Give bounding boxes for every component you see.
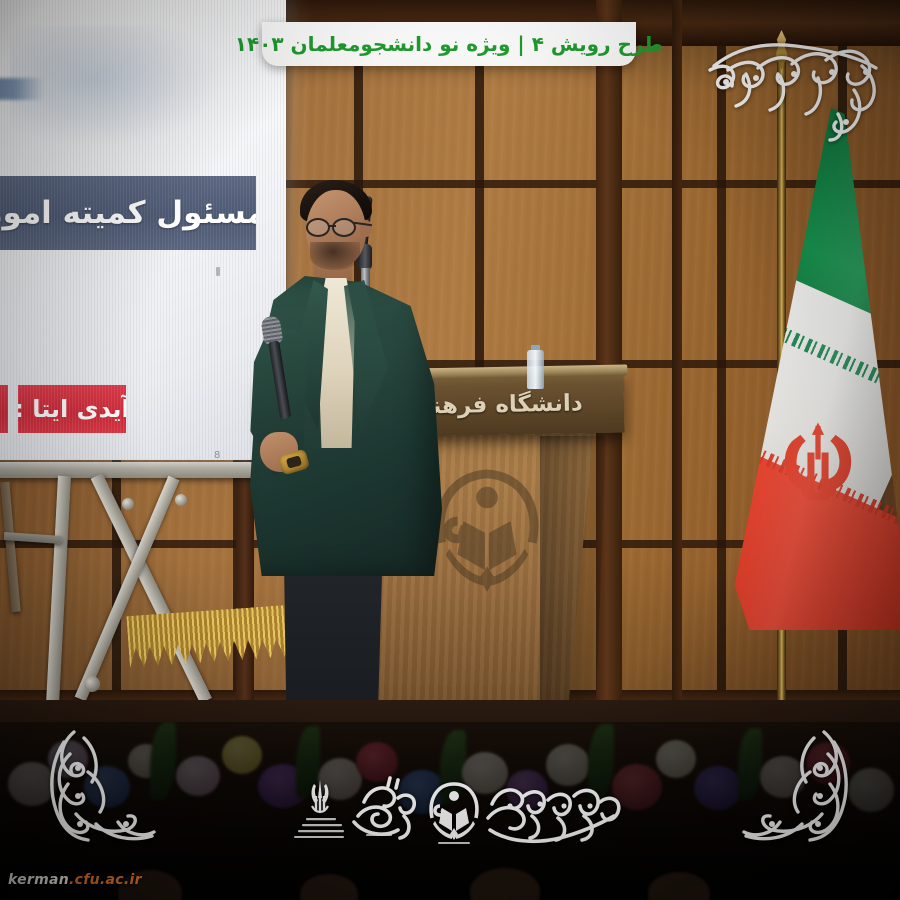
audience-head (470, 868, 540, 900)
site-watermark: kerman.cfu.ac.ir (8, 872, 142, 888)
eyeglasses-lens-left (306, 218, 330, 237)
event-title-banner: طرح رویش ۴ | ویژه نو دانشجومعلمان ۱۴۰۳ (262, 22, 636, 66)
manzelat-rahbari-calligraphy (488, 790, 619, 841)
watermark-suffix: .cfu.ac.ir (69, 872, 142, 888)
water-bottle (527, 345, 544, 389)
screen-headline-text: مسئول کمیته امور (0, 195, 256, 231)
sponsor-logo-strip (292, 772, 628, 848)
truss-bolt (84, 676, 100, 692)
event-title-text: طرح رویش ۴ | ویژه نو دانشجومعلمان ۱۴۰۳ (235, 32, 664, 56)
audience-head (648, 872, 710, 900)
truss-bolt (122, 498, 134, 510)
screen-headline-bar: مسئول کمیته امور (0, 176, 256, 250)
tarh-owj-calligraphy (354, 778, 414, 838)
iran-emblem-ministry-of-education (312, 780, 329, 812)
screen-red-bar-main: آیدی ایتا : (18, 385, 126, 433)
eyeglasses-lens-right (332, 218, 356, 237)
farhangian-university-logo (431, 784, 477, 844)
truss-bolt (175, 494, 187, 506)
male-speaker-at-podium (236, 176, 456, 736)
arabesque-ornament-bottom-right (724, 726, 864, 846)
arabesque-ornament-bottom-left (34, 726, 158, 842)
microphone-capsule (260, 315, 283, 345)
audience-head (300, 874, 358, 900)
arabesque-ornament-top-right (706, 18, 882, 142)
screen-cursor-dot (216, 267, 220, 276)
event-photo: مسئول کمیته امور آیدی ایتا : bra 8 (0, 0, 900, 900)
screen-red-bar-main-text: آیدی ایتا : (18, 395, 126, 423)
screen-faint-graphic (0, 78, 44, 100)
podium-side-shadow (540, 436, 606, 726)
screen-page-marker: 8 (214, 450, 220, 461)
watermark-prefix: kerman (8, 872, 69, 888)
speaker-beard (310, 242, 360, 270)
bottle-body (527, 350, 544, 389)
screen-red-bar-left: bra (0, 385, 8, 433)
eyeglasses-bridge (328, 225, 336, 227)
